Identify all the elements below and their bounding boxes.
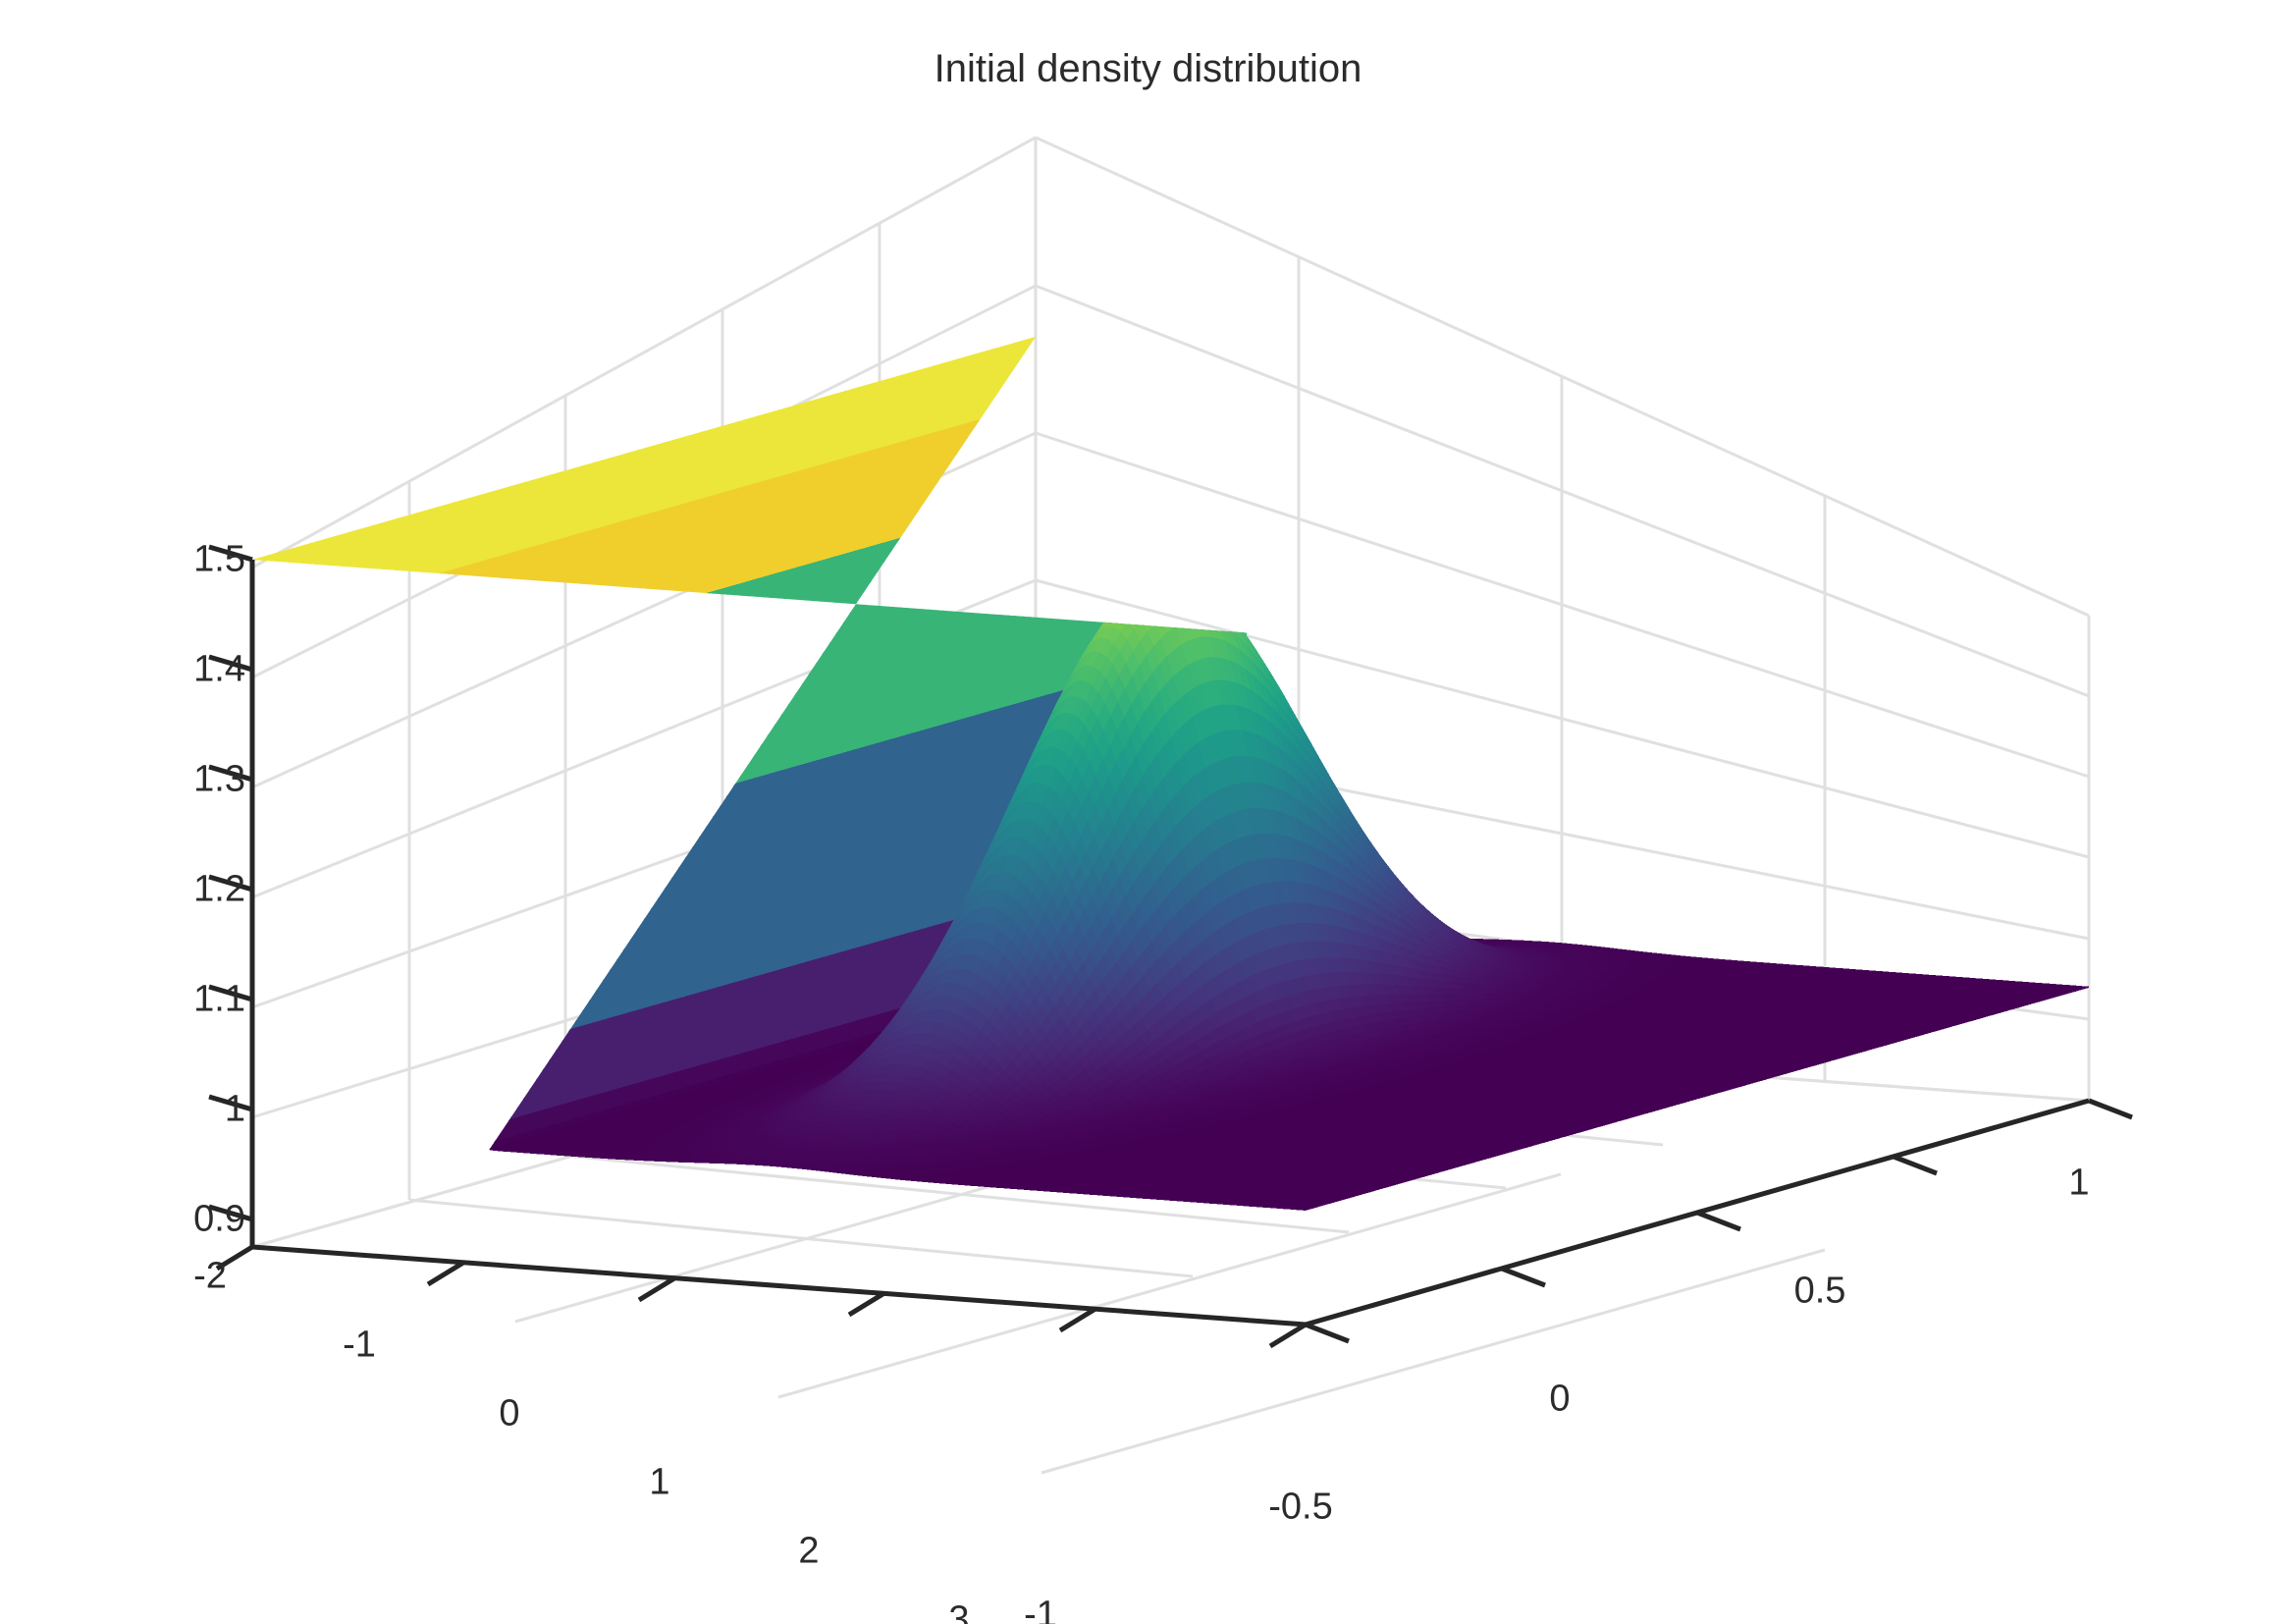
y-tick-label-1: -0.5 [1268, 1487, 1332, 1529]
figure-canvas: Initial density distribution 1.51.41.31.… [0, 0, 2296, 1624]
y-tick-label-2: 0 [1549, 1379, 1570, 1421]
x-tick-label-2: 0 [499, 1393, 519, 1435]
y-tick-label-0: -1 [1024, 1595, 1057, 1624]
z-tick-label-6: 0.9 [193, 1199, 245, 1241]
x-axis-line [252, 1247, 1306, 1325]
z-tick-label-4: 1.1 [193, 979, 245, 1021]
z-tick-label-3: 1.2 [193, 869, 245, 911]
surface-plot-svg [0, 0, 2296, 1624]
z-tick-label-5: 1 [225, 1089, 245, 1131]
x-tick-label-4: 2 [798, 1531, 819, 1573]
density-surface [252, 337, 2089, 1210]
x-tick-label-1: -1 [343, 1325, 376, 1367]
z-tick-label-1: 1.4 [193, 649, 245, 691]
x-tick-label-0: -2 [193, 1256, 227, 1298]
x-tick-label-5: 3 [948, 1599, 969, 1624]
y-tick-label-3: 0.5 [1794, 1271, 1846, 1313]
y-tick-label-4: 1 [2068, 1163, 2089, 1205]
x-tick-label-3: 1 [649, 1462, 669, 1504]
z-tick-label-0: 1.5 [193, 539, 245, 581]
x-axis-ticks [217, 1247, 1306, 1346]
z-tick-label-2: 1.3 [193, 759, 245, 801]
page-title: Initial density distribution [0, 47, 2296, 91]
